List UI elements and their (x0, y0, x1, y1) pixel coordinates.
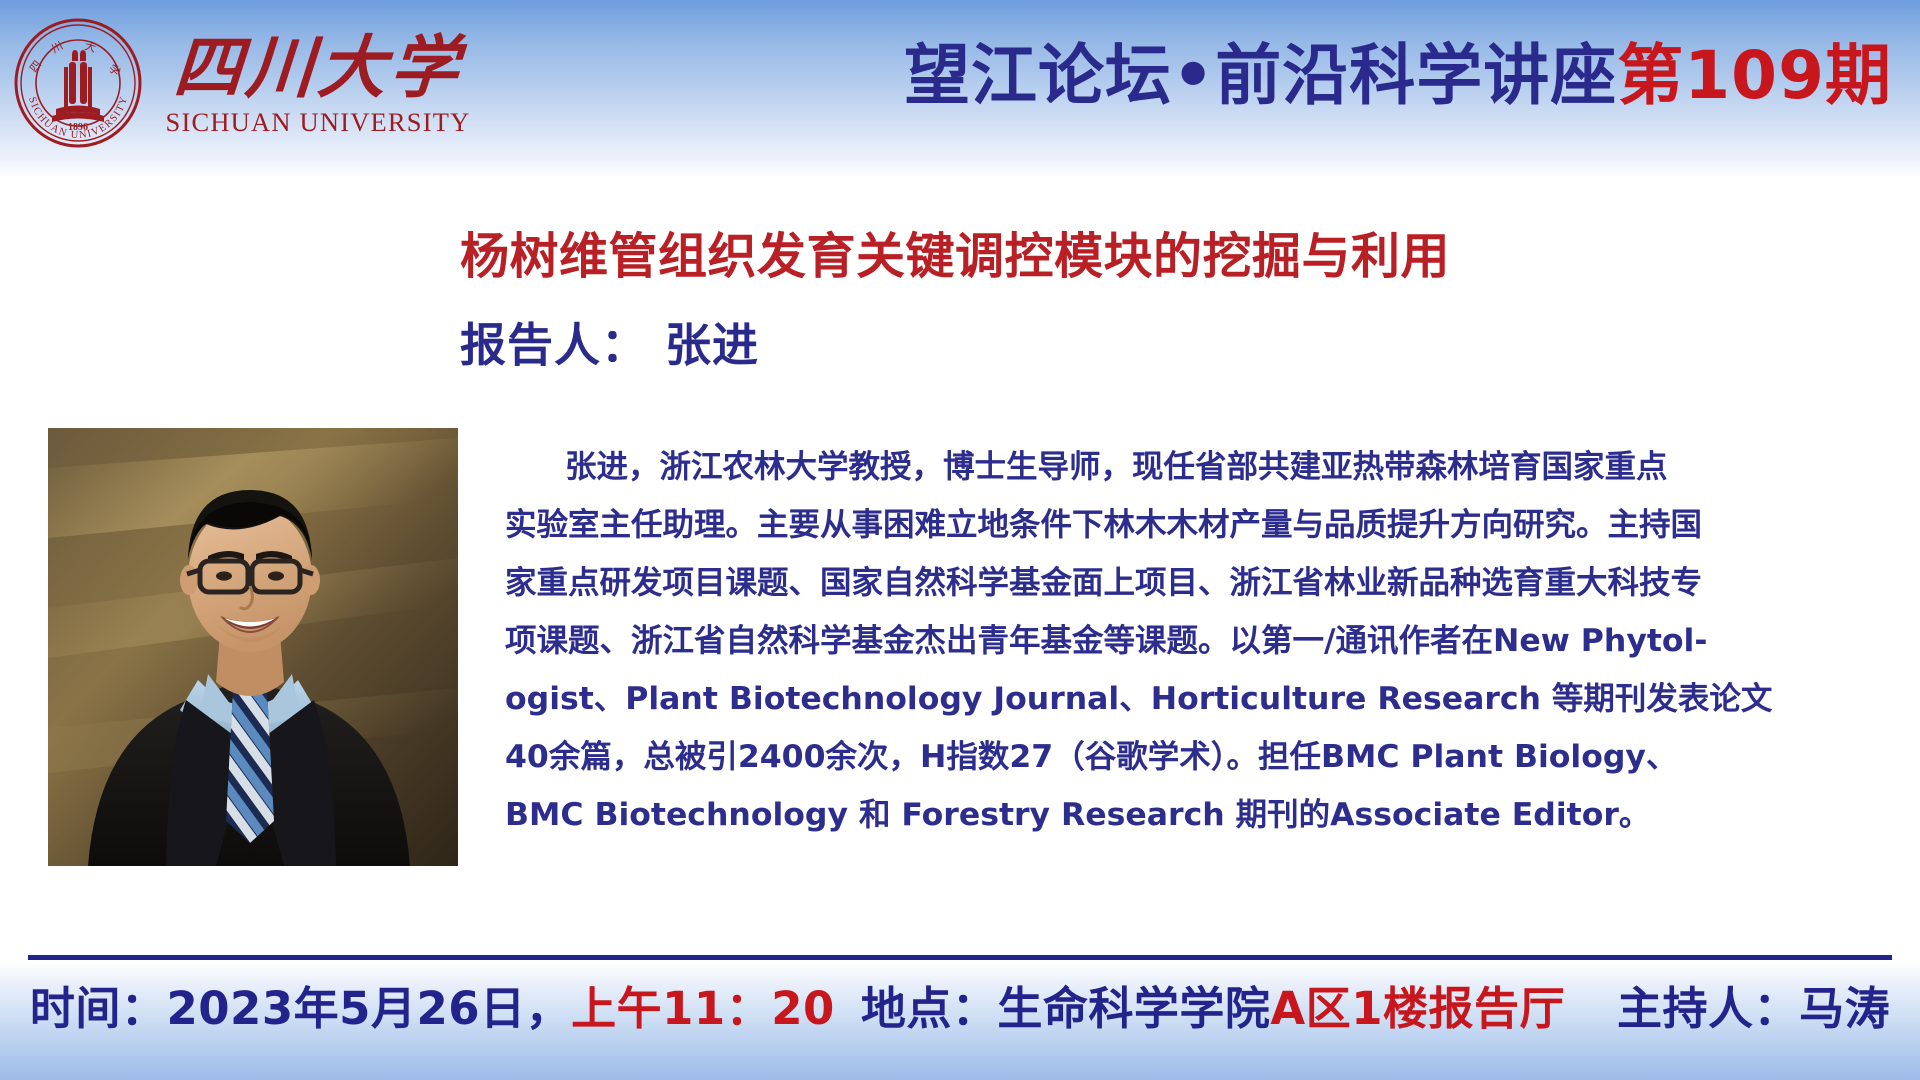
speaker-bio: 张进，浙江农林大学教授，博士生导师，现任省部共建亚热带森林培育国家重点 实验室主… (505, 438, 1905, 844)
university-seal-icon: 四 川 大 学 SICHUAN UNIVERSITY (12, 17, 144, 149)
place-label: 地点： (861, 982, 998, 1035)
header-title: 望江论坛•前沿科学讲座第109期 (560, 28, 1908, 124)
lecture-title: 杨树维管组织发育关键调控模块的挖掘与利用 (460, 228, 1880, 286)
host-name: 马涛 (1799, 982, 1890, 1035)
place-room: A区1楼报告厅 (1270, 982, 1565, 1035)
bio-line: 40余篇，总被引2400余次，H指数27（谷歌学术）。担任BMC Plant B… (505, 728, 1905, 786)
university-wordmark: 四川大学 SICHUAN UNIVERSITY (154, 30, 482, 136)
lecture-poster: 四 川 大 学 SICHUAN UNIVERSITY (0, 0, 1920, 1080)
svg-text:学: 学 (106, 61, 124, 79)
host-label: 主持人： (1617, 982, 1799, 1035)
place-building: 生命科学学院 (997, 982, 1270, 1035)
svg-text:川: 川 (49, 39, 65, 56)
bio-line: 家重点研发项目课题、国家自然科学基金面上项目、浙江省林业新品种选育重大科技专 (505, 554, 1905, 612)
bio-line: 实验室主任助理。主要从事困难立地条件下林木木材产量与品质提升方向研究。主持国 (505, 496, 1905, 554)
university-name-cn: 四川大学 (172, 34, 465, 102)
header-title-issue: 第109期 (1617, 43, 1892, 109)
bio-line: 张进，浙江农林大学教授，博士生导师，现任省部共建亚热带森林培育国家重点 (505, 438, 1905, 496)
header-title-series: 望江论坛•前沿科学讲座 (904, 43, 1617, 109)
time-label: 时间： (30, 982, 167, 1035)
bio-line: ogist、Plant Biotechnology Journal、Hortic… (505, 670, 1905, 728)
svg-text:1896: 1896 (68, 122, 88, 133)
lecture-date: 2023年5月26日， (166, 982, 571, 1035)
lecture-time: 上午11：20 (571, 982, 835, 1035)
bio-line: BMC Biotechnology 和 Forestry Research 期刊… (505, 786, 1905, 844)
speaker-line: 报告人： 张进 (460, 318, 1360, 373)
speaker-portrait (48, 428, 458, 866)
university-logo: 四 川 大 学 SICHUAN UNIVERSITY (12, 8, 482, 158)
footer-details: 时间：2023年5月26日，上午11：20地点：生命科学学院A区1楼报告厅主持人… (0, 978, 1920, 1040)
footer-divider (28, 955, 1892, 960)
bio-line: 项课题、浙江省自然科学基金杰出青年基金等课题。以第一/通讯作者在New Phyt… (505, 612, 1905, 670)
university-name-en: SICHUAN UNIVERSITY (166, 109, 471, 136)
